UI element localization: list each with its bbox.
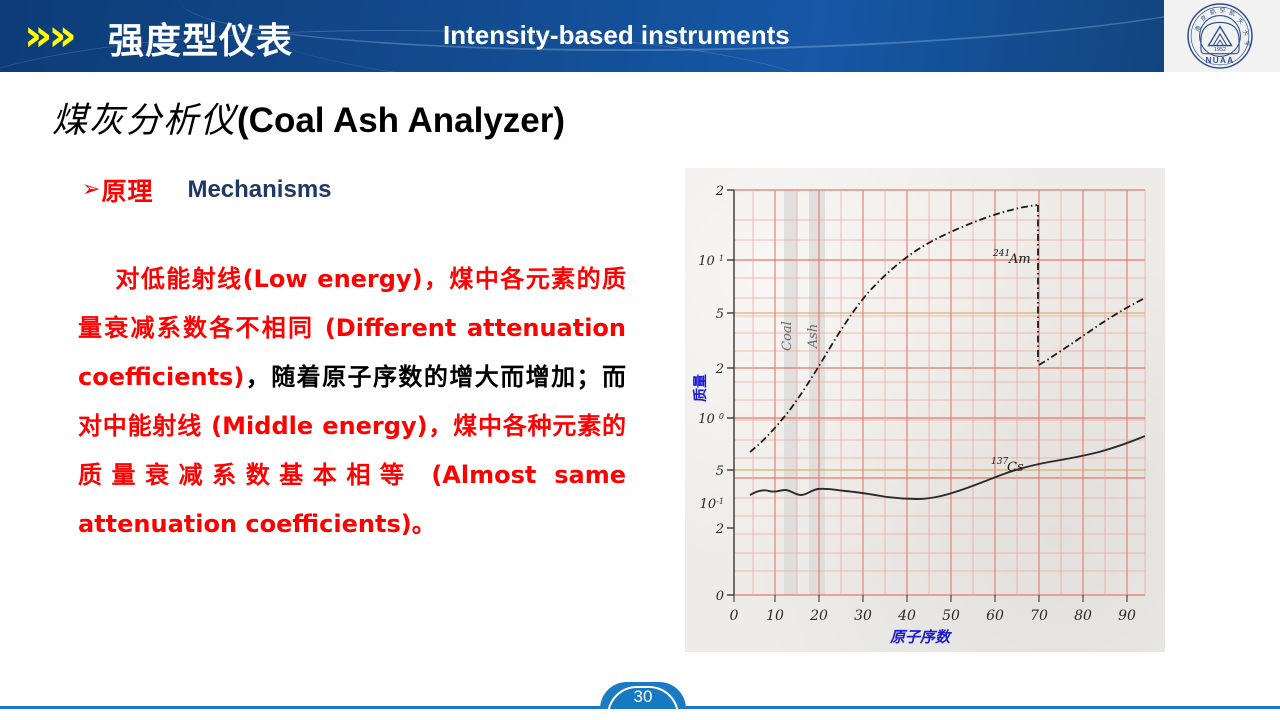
svg-text:5: 5 — [716, 307, 724, 322]
slide-header: »» 强度型仪表 Intensity-based instruments — [0, 0, 1280, 72]
svg-text:60: 60 — [986, 608, 1004, 624]
svg-text:2: 2 — [715, 522, 724, 537]
curve-label-241Am: 241 Am — [992, 249, 1031, 267]
svg-text:航: 航 — [1209, 7, 1218, 17]
ash-band-label: Ash — [806, 324, 821, 349]
chart-x-axis-title: 原子序数 — [889, 628, 953, 646]
header-title-chinese: 强度型仪表 — [108, 12, 293, 64]
page-title-chinese: 煤灰分析仪 — [52, 101, 237, 141]
svg-text:0: 0 — [730, 608, 739, 624]
svg-text:90: 90 — [1118, 608, 1136, 624]
chart-y-axis-title: 质量 — [692, 374, 709, 402]
svg-text:Cs: Cs — [1007, 460, 1024, 475]
nuaa-university-logo: 1952 NUAA 南 京 航 空 航 天 大 学 — [1186, 2, 1254, 70]
header-title-english: Intensity-based instruments — [443, 20, 790, 51]
svg-text:NUAA: NUAA — [1205, 56, 1234, 65]
footer-divider-right — [686, 706, 1280, 709]
mechanisms-label-chinese: 原理 — [101, 172, 153, 208]
page-title-english: (Coal Ash Analyzer) — [237, 101, 565, 140]
svg-text:241: 241 — [992, 249, 1010, 259]
svg-text:Am: Am — [1008, 252, 1031, 267]
svg-text:70: 70 — [1030, 608, 1048, 624]
svg-text:0: 0 — [716, 589, 724, 604]
svg-text:2: 2 — [715, 362, 724, 377]
svg-text:10 1: 10 1 — [698, 254, 724, 269]
svg-text:10: 10 — [766, 608, 784, 624]
svg-text:40: 40 — [897, 608, 916, 624]
coal-band-label: Coal — [780, 321, 795, 351]
svg-text:南: 南 — [1193, 24, 1203, 33]
svg-text:10 0: 10 0 — [698, 412, 724, 427]
arrow-bullet-icon: ➢ — [82, 179, 100, 201]
chart-x-tick-labels: 0 10 20 30 40 50 60 70 80 90 — [730, 608, 1136, 624]
paragraph-run-2: ，随着原子序数的增大而增加；而 — [244, 363, 626, 391]
paragraph-run-3: 对中能射线 (Middle energy)，煤中各种元素的质量衰减系数基本相等 … — [78, 412, 626, 538]
svg-text:20: 20 — [809, 608, 828, 624]
curve-241Am-high — [1039, 298, 1145, 365]
chart-y-tick-labels-extra: 10-1 — [700, 497, 724, 512]
svg-text:137: 137 — [991, 457, 1008, 467]
page-title: 煤灰分析仪(Coal Ash Analyzer) — [52, 92, 565, 143]
svg-text:80: 80 — [1074, 608, 1092, 624]
svg-text:1952: 1952 — [1214, 47, 1226, 53]
curve-label-137Cs: 137 Cs — [991, 457, 1024, 475]
mechanisms-heading: ➢ 原理 Mechanisms — [82, 172, 332, 208]
mechanisms-label-english: Mechanisms — [187, 176, 331, 204]
mass-attenuation-chart: 2 10 1 5 2 10 0 5 2 0 10-1 0 10 20 30 40… — [685, 168, 1165, 652]
chart-svg: 2 10 1 5 2 10 0 5 2 0 10-1 0 10 20 30 40… — [685, 168, 1165, 652]
svg-text:30: 30 — [854, 608, 872, 624]
page-number: 30 — [600, 687, 686, 707]
svg-text:10-1: 10-1 — [700, 497, 724, 512]
body-paragraph: 对低能射线(Low energy)，煤中各元素的质量衰减系数各不相同 (Diff… — [78, 255, 626, 549]
double-chevron-right-icon: »» — [24, 16, 100, 58]
svg-text:5: 5 — [716, 464, 724, 479]
chart-x-axis-ticks — [734, 595, 1127, 602]
logo-area: 1952 NUAA 南 京 航 空 航 天 大 学 — [1164, 0, 1280, 72]
svg-text:2: 2 — [715, 184, 724, 199]
footer-divider-left — [0, 706, 600, 709]
chart-y-axis-ticks — [727, 190, 734, 595]
svg-text:50: 50 — [942, 608, 960, 624]
